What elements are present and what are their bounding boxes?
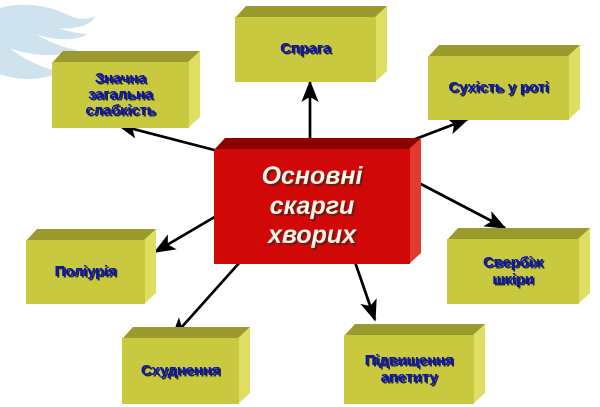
box-side-bevel — [578, 228, 590, 304]
node-general-weakness[interactable]: Значна загальна слабкість — [52, 51, 200, 128]
node-general-weakness-line-1: Значна — [85, 71, 155, 87]
center-node-face: Основні скарги хворих — [214, 149, 410, 264]
node-increased-appetite-line-1: Підвищення — [365, 353, 454, 369]
node-dry-mouth-label: Сухість у роті — [448, 80, 548, 96]
node-weight-loss-face: Схуднення — [122, 338, 239, 404]
box-side-bevel — [144, 229, 156, 304]
arrow-to-skin-itching — [417, 182, 505, 228]
arrow-to-polyuria — [155, 215, 218, 252]
node-increased-appetite-line-2: апетиту — [365, 370, 454, 386]
diagram-canvas: Основні скарги хворих Спрага Значна зага… — [0, 0, 600, 407]
box-side-bevel — [409, 138, 421, 264]
node-skin-itching-line-2: шкіри — [483, 272, 543, 288]
node-thirst-label: Спрага — [280, 41, 331, 57]
node-skin-itching[interactable]: Свербіж шкіри — [447, 228, 590, 304]
node-increased-appetite-face: Підвищення апетиту — [344, 335, 474, 404]
node-general-weakness-face: Значна загальна слабкість — [52, 62, 189, 128]
center-node-main-complaints[interactable]: Основні скарги хворих — [214, 138, 421, 264]
node-polyuria[interactable]: Поліурія — [26, 229, 156, 304]
center-node-line-1: Основні — [262, 162, 363, 192]
node-thirst-face: Спрага — [235, 17, 376, 82]
box-side-bevel — [188, 51, 200, 128]
center-node-line-3: хворих — [268, 221, 356, 251]
node-skin-itching-line-1: Свербіж — [483, 255, 543, 271]
node-dry-mouth-face: Сухість у роті — [428, 56, 569, 120]
center-node-line-2: скарги — [270, 192, 355, 222]
box-side-bevel — [238, 327, 250, 404]
node-skin-itching-face: Свербіж шкіри — [447, 239, 579, 304]
node-general-weakness-line-2: загальна — [85, 87, 155, 103]
node-weight-loss-label: Схуднення — [141, 363, 220, 379]
node-general-weakness-line-3: слабкість — [85, 103, 155, 119]
node-weight-loss[interactable]: Схуднення — [122, 327, 250, 404]
node-polyuria-label: Поліурія — [55, 264, 117, 280]
box-side-bevel — [375, 6, 387, 82]
node-polyuria-face: Поліурія — [26, 240, 145, 304]
arrow-to-weakness — [118, 125, 222, 152]
arrow-to-increased-appetite — [355, 262, 375, 320]
node-thirst[interactable]: Спрага — [235, 6, 387, 82]
node-dry-mouth[interactable]: Сухість у роті — [428, 45, 580, 120]
box-side-bevel — [473, 324, 485, 404]
box-side-bevel — [568, 45, 580, 120]
node-increased-appetite[interactable]: Підвищення апетиту — [344, 324, 485, 404]
